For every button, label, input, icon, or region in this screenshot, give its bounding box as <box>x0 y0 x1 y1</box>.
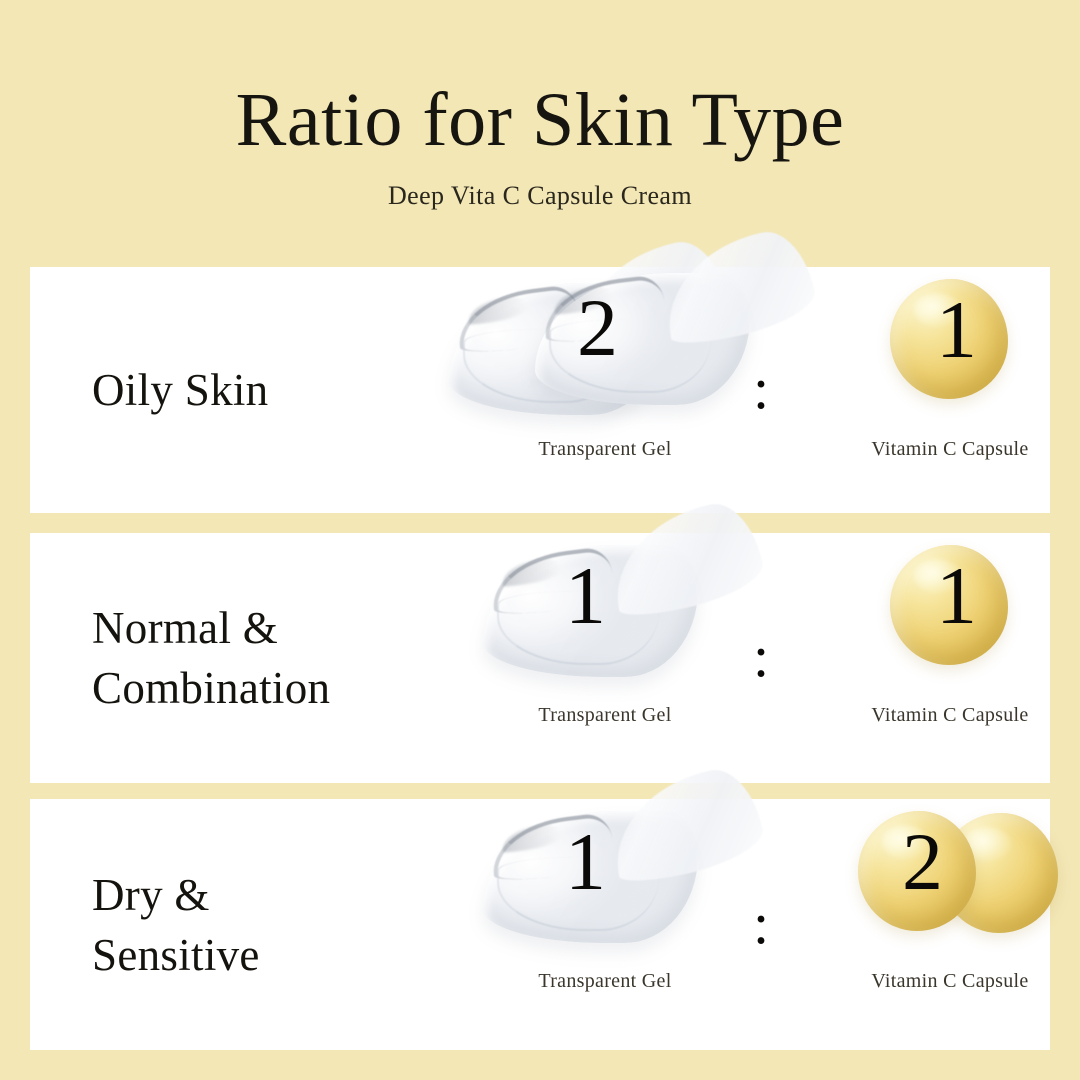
skin-type-label-oily: Oily Skin <box>30 360 415 420</box>
page-header: Ratio for Skin Type Deep Vita C Capsule … <box>0 0 1080 212</box>
capsule-caption: Vitamin C Capsule <box>780 703 1080 727</box>
ratio-row-normal-combination: Normal & Combination 1 Transparent Gel : <box>30 533 1050 783</box>
gel-art-stage: 2 <box>435 267 775 427</box>
capsule-art-stage: 2 <box>780 799 1080 959</box>
gel-count-number: 1 <box>565 821 606 903</box>
gel-group: 2 Transparent Gel <box>435 267 775 461</box>
ratio-separator: : <box>753 628 769 686</box>
gel-sheen-icon <box>466 294 529 326</box>
skin-type-line: Normal & <box>92 598 415 658</box>
capsule-count-number: 1 <box>936 289 977 371</box>
ratio-separator: : <box>753 360 769 418</box>
ratio-separator: : <box>753 894 769 952</box>
ratio-card-list: Oily Skin 2 Transparent Gel : <box>30 267 1050 1050</box>
capsule-art-stage: 1 <box>780 267 1080 427</box>
gel-caption: Transparent Gel <box>435 969 775 993</box>
skin-type-line: Dry & <box>92 865 415 925</box>
capsule-caption: Vitamin C Capsule <box>780 969 1080 993</box>
skin-type-label-normal: Normal & Combination <box>30 598 415 718</box>
skin-type-label-dry: Dry & Sensitive <box>30 865 415 985</box>
gel-inner-edge-icon <box>549 319 711 393</box>
ratio-row-oily-skin: Oily Skin 2 Transparent Gel : <box>30 267 1050 513</box>
capsule-group: 1 Vitamin C Capsule <box>780 533 1080 727</box>
gel-sheen-icon <box>500 556 563 588</box>
gel-group: 1 Transparent Gel <box>435 799 775 993</box>
skin-type-line: Combination <box>92 658 415 718</box>
capsule-art-stage: 1 <box>780 533 1080 693</box>
ratio-visual-area: 1 Transparent Gel : 1 Vitamin C Capsule <box>415 533 1050 783</box>
ratio-row-dry-sensitive: Dry & Sensitive 1 Transparent Gel : <box>30 799 1050 1050</box>
gel-caption: Transparent Gel <box>435 437 775 461</box>
gel-art-stage: 1 <box>435 799 775 959</box>
capsule-count-number: 2 <box>902 821 943 903</box>
ratio-visual-area: 2 Transparent Gel : 1 Vitamin C Capsule <box>415 267 1050 513</box>
capsule-count-number: 1 <box>936 555 977 637</box>
skin-type-line: Sensitive <box>92 925 415 985</box>
capsule-caption: Vitamin C Capsule <box>780 437 1080 461</box>
capsule-group: 1 Vitamin C Capsule <box>780 267 1080 461</box>
gel-art-stage: 1 <box>435 533 775 693</box>
gel-group: 1 Transparent Gel <box>435 533 775 727</box>
gel-caption: Transparent Gel <box>435 703 775 727</box>
skin-type-line: Oily Skin <box>92 360 415 420</box>
gel-count-number: 1 <box>565 555 606 637</box>
page-title: Ratio for Skin Type <box>0 78 1080 162</box>
page-subtitle: Deep Vita C Capsule Cream <box>0 180 1080 212</box>
capsule-group: 2 Vitamin C Capsule <box>780 799 1080 993</box>
gel-count-number: 2 <box>577 287 618 369</box>
ratio-visual-area: 1 Transparent Gel : 2 Vitamin C Capsule <box>415 799 1050 1050</box>
gel-sheen-icon <box>500 822 563 854</box>
